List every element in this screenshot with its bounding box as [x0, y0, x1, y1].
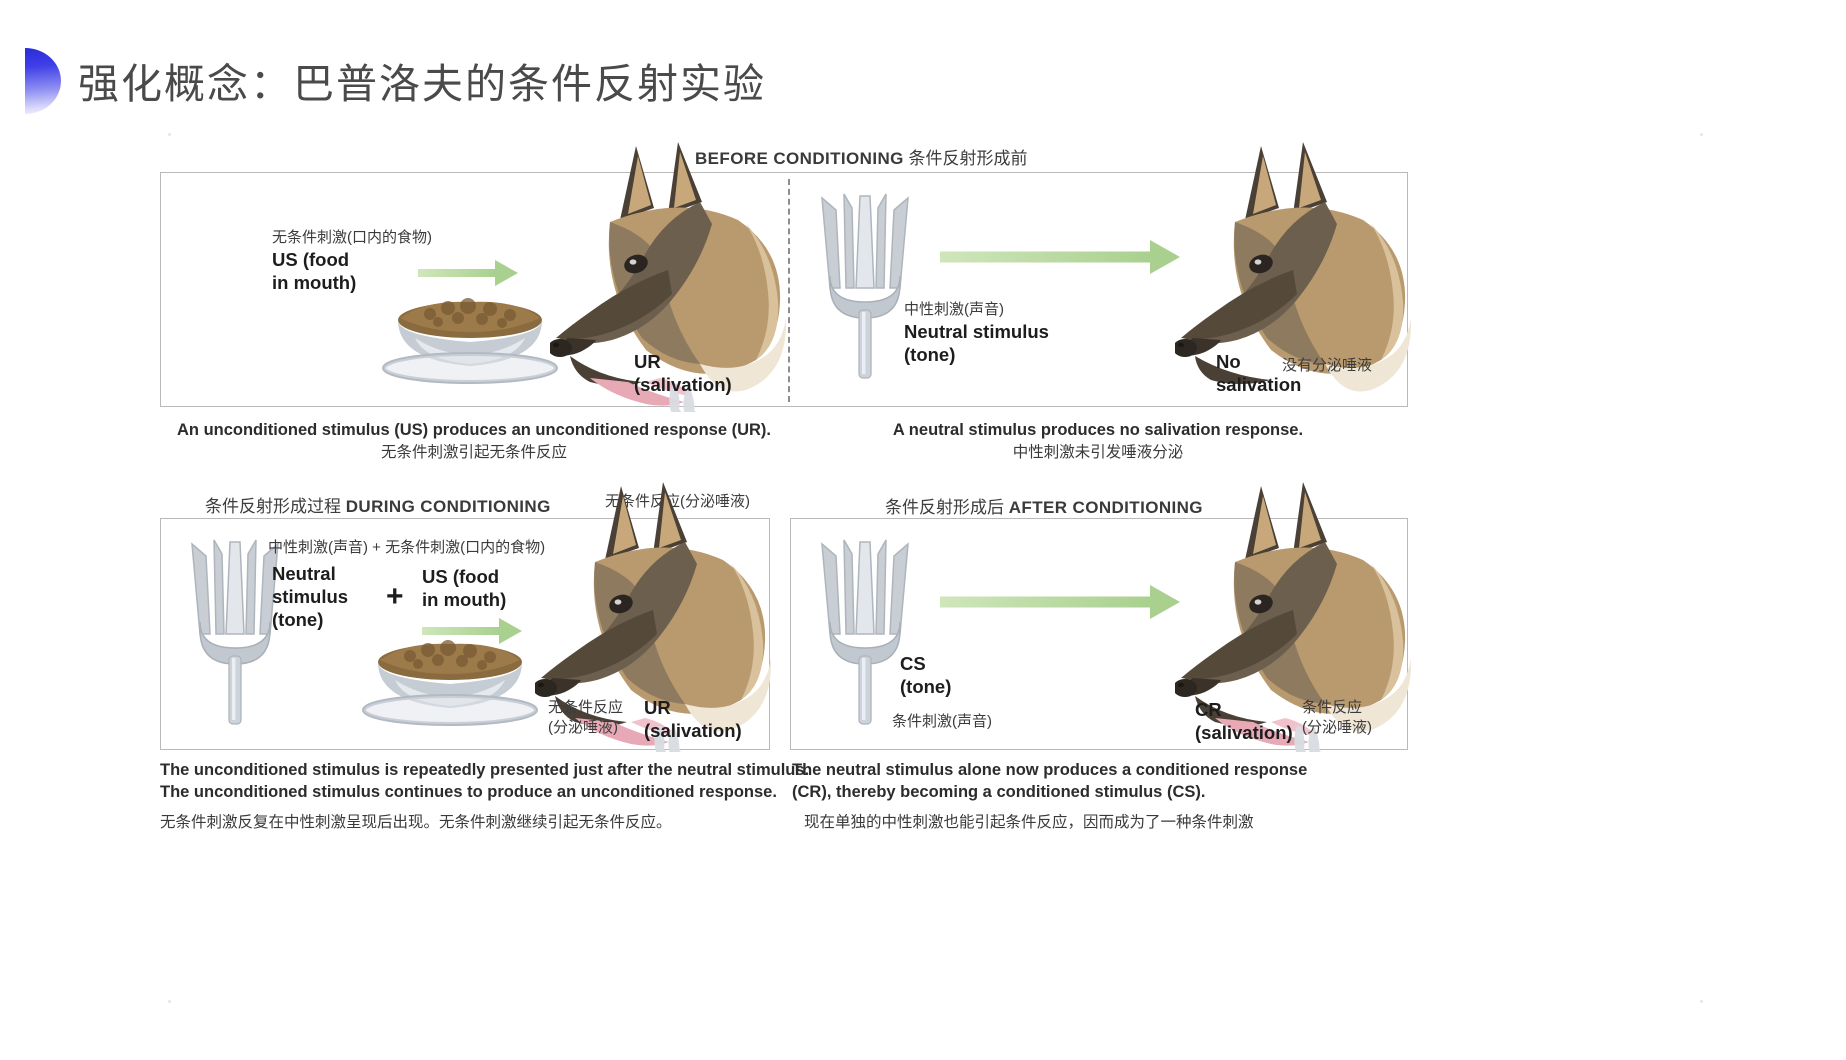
- label-during-us-en: US (food in mouth): [422, 565, 506, 611]
- section-heading-during: 条件反射形成过程 DURING CONDITIONING: [205, 492, 551, 517]
- label-neutral-stimulus-en-2: (tone): [904, 343, 1049, 366]
- label-during-ur-en-2: (salivation): [644, 719, 742, 742]
- label-neutral-stimulus-zh: 中性刺激(声音): [904, 300, 1049, 320]
- slide-root: 强化概念：巴普洛夫的条件反射实验 BEFORE CONDITIONING 条件反…: [0, 0, 1846, 1060]
- plus-sign-icon: +: [386, 580, 404, 614]
- label-cr-en-2: (salivation): [1195, 721, 1293, 744]
- label-neutral-stimulus: 中性刺激(声音) Neutral stimulus (tone): [904, 300, 1049, 366]
- caption-before-right: A neutral stimulus produces no salivatio…: [788, 420, 1408, 464]
- arrow-tone-to-dog-icon: [940, 240, 1180, 274]
- label-cr-en-1: CR: [1195, 698, 1293, 721]
- section-heading-during-zh: 条件反射形成过程: [205, 497, 341, 516]
- caption-after: The neutral stimulus alone now produces …: [792, 760, 1412, 834]
- label-cr-zh-2: (分泌唾液): [1302, 718, 1372, 738]
- label-cr-zh: 条件反应 (分泌唾液): [1302, 698, 1372, 737]
- arrow-cs-to-dog-icon: [940, 585, 1180, 619]
- label-cs-zh: 条件刺激(声音): [892, 712, 992, 732]
- caption-before-left-zh: 无条件刺激引起无条件反应: [160, 442, 788, 464]
- registration-dot: [1700, 133, 1703, 136]
- label-cs-en: CS (tone): [900, 652, 951, 698]
- registration-dot: [168, 1000, 171, 1003]
- label-during-ur-zh: 无条件反应 (分泌唾液): [548, 698, 623, 737]
- label-during-ur-zh-1: 无条件反应: [548, 698, 623, 718]
- pavlov-diagram: BEFORE CONDITIONING 条件反射形成前 无条件刺激(口内的食物)…: [150, 140, 1710, 1020]
- caption-during-zh: 无条件刺激反复在中性刺激呈现后出现。无条件刺激继续引起无条件反应。: [160, 812, 780, 834]
- label-during-neutral-en-1: Neutral: [272, 562, 348, 585]
- label-during-ur-zh-2: (分泌唾液): [548, 718, 623, 738]
- label-ur-en: UR (salivation): [634, 350, 732, 396]
- label-cs-en-1: CS: [900, 652, 951, 675]
- label-us-stimulus: 无条件刺激(口内的食物) US (food in mouth): [272, 228, 432, 294]
- label-us-stimulus-en-1: US (food: [272, 248, 432, 271]
- caption-before-left-en: An unconditioned stimulus (US) produces …: [160, 420, 788, 442]
- section-heading-during-en: DURING CONDITIONING: [346, 497, 551, 516]
- label-during-combo-zh-text: 中性刺激(声音) + 无条件刺激(口内的食物): [268, 538, 545, 558]
- section-heading-after: 条件反射形成后 AFTER CONDITIONING: [885, 493, 1203, 518]
- caption-after-en-1: The neutral stimulus alone now produces …: [792, 760, 1412, 782]
- section-heading-after-zh: 条件反射形成后: [885, 498, 1004, 517]
- label-ur-en-2: (salivation): [634, 373, 732, 396]
- food-bowl-icon: [350, 640, 550, 730]
- page-title: 强化概念：巴普洛夫的条件反射实验: [78, 50, 766, 110]
- label-during-ur-en: UR (salivation): [644, 696, 742, 742]
- label-no-salivation-zh-text: 没有分泌唾液: [1282, 356, 1372, 376]
- label-us-stimulus-zh: 无条件刺激(口内的食物): [272, 228, 432, 248]
- caption-during-en-2: The unconditioned stimulus continues to …: [160, 782, 780, 804]
- caption-during: The unconditioned stimulus is repeatedly…: [160, 760, 780, 834]
- registration-dot: [1700, 1000, 1703, 1003]
- label-during-neutral-en-2: stimulus: [272, 585, 348, 608]
- label-during-us-en-1: US (food: [422, 565, 506, 588]
- title-accent-shape-icon: [25, 48, 61, 114]
- label-during-neutral-en: Neutral stimulus (tone): [272, 562, 348, 631]
- label-ur-en-1: UR: [634, 350, 732, 373]
- slide-header: 强化概念：巴普洛夫的条件反射实验: [0, 22, 1846, 118]
- registration-dot: [168, 133, 171, 136]
- caption-after-en-2: (CR), thereby becoming a conditioned sti…: [792, 782, 1412, 804]
- label-during-combo-zh: 中性刺激(声音) + 无条件刺激(口内的食物): [268, 538, 545, 558]
- label-cr-zh-1: 条件反应: [1302, 698, 1372, 718]
- section-heading-after-en: AFTER CONDITIONING: [1009, 498, 1203, 517]
- label-during-us-en-2: in mouth): [422, 588, 506, 611]
- label-no-salivation-zh: 没有分泌唾液: [1282, 356, 1372, 376]
- caption-before-left: An unconditioned stimulus (US) produces …: [160, 420, 788, 464]
- label-neutral-stimulus-en-1: Neutral stimulus: [904, 320, 1049, 343]
- food-bowl-icon: [370, 298, 570, 388]
- caption-during-en-1: The unconditioned stimulus is repeatedly…: [160, 760, 780, 782]
- caption-before-right-en: A neutral stimulus produces no salivatio…: [788, 420, 1408, 442]
- label-cs-en-2: (tone): [900, 675, 951, 698]
- label-no-salivation-en-2: salivation: [1216, 373, 1301, 396]
- tuning-fork-icon: [810, 538, 920, 728]
- label-cs-zh-text: 条件刺激(声音): [892, 712, 992, 732]
- label-during-ur-en-1: UR: [644, 696, 742, 719]
- label-during-neutral-en-3: (tone): [272, 608, 348, 631]
- caption-after-zh: 现在单独的中性刺激也能引起条件反应，因而成为了一种条件刺激: [792, 812, 1412, 834]
- section-heading-before-zh: 条件反射形成前: [909, 149, 1028, 168]
- label-us-stimulus-en-2: in mouth): [272, 271, 432, 294]
- arrow-us-to-dog-icon: [418, 260, 518, 286]
- label-cr-en: CR (salivation): [1195, 698, 1293, 744]
- caption-before-right-zh: 中性刺激未引发唾液分泌: [788, 442, 1408, 464]
